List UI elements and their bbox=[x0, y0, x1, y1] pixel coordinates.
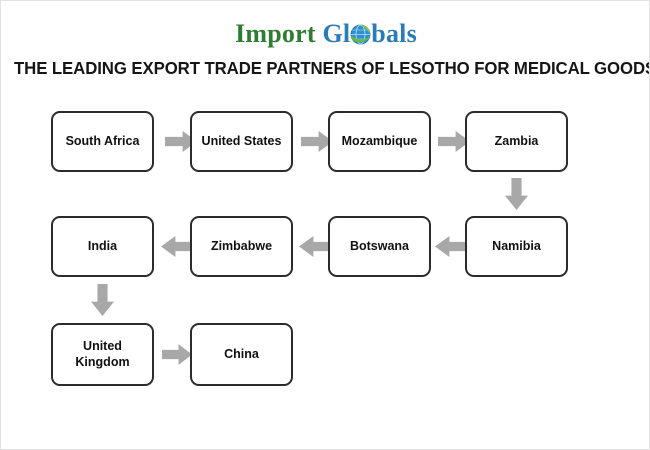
page-title: THE LEADING EXPORT TRADE PARTNERS OF LES… bbox=[14, 58, 638, 79]
flow-node-label: Zimbabwe bbox=[211, 239, 272, 255]
flow-node-namibia[interactable]: Namibia bbox=[465, 216, 568, 277]
arrow-india-to-united-kingdom bbox=[91, 284, 114, 316]
logo-text-globals-suffix: bals bbox=[371, 21, 417, 47]
flow-node-label: Zambia bbox=[495, 134, 539, 150]
arrow-united-kingdom-to-china bbox=[162, 344, 192, 365]
flow-node-china[interactable]: China bbox=[190, 323, 293, 386]
flow-node-label: China bbox=[224, 347, 259, 363]
arrow-zimbabwe-to-india bbox=[161, 236, 193, 257]
arrow-namibia-to-botswana bbox=[435, 236, 467, 257]
logo-spacer bbox=[316, 21, 323, 47]
flow-node-india[interactable]: India bbox=[51, 216, 154, 277]
flow-node-label: Namibia bbox=[492, 239, 541, 255]
globe-icon bbox=[350, 24, 371, 45]
logo-text-import: Import bbox=[235, 21, 316, 47]
arrow-botswana-to-zimbabwe bbox=[299, 236, 331, 257]
flow-node-label: United States bbox=[202, 134, 282, 150]
flow-node-label: Botswana bbox=[350, 239, 409, 255]
flow-node-south-africa[interactable]: South Africa bbox=[51, 111, 154, 172]
brand-logo: Import Gl bals bbox=[1, 18, 650, 50]
flow-node-label: Mozambique bbox=[342, 134, 418, 150]
flow-node-united-states[interactable]: United States bbox=[190, 111, 293, 172]
flow-node-botswana[interactable]: Botswana bbox=[328, 216, 431, 277]
flow-node-mozambique[interactable]: Mozambique bbox=[328, 111, 431, 172]
arrow-zambia-to-namibia bbox=[505, 178, 528, 210]
logo-text-globals-prefix: Gl bbox=[322, 21, 350, 47]
flow-node-label: South Africa bbox=[66, 134, 140, 150]
infographic-canvas: Import Gl bals THE LEADING EXPORT TRADE … bbox=[0, 0, 650, 450]
flow-node-label: India bbox=[88, 239, 117, 255]
flow-node-label: United Kingdom bbox=[57, 339, 148, 370]
flow-node-zambia[interactable]: Zambia bbox=[465, 111, 568, 172]
flow-node-zimbabwe[interactable]: Zimbabwe bbox=[190, 216, 293, 277]
flow-node-united-kingdom[interactable]: United Kingdom bbox=[51, 323, 154, 386]
